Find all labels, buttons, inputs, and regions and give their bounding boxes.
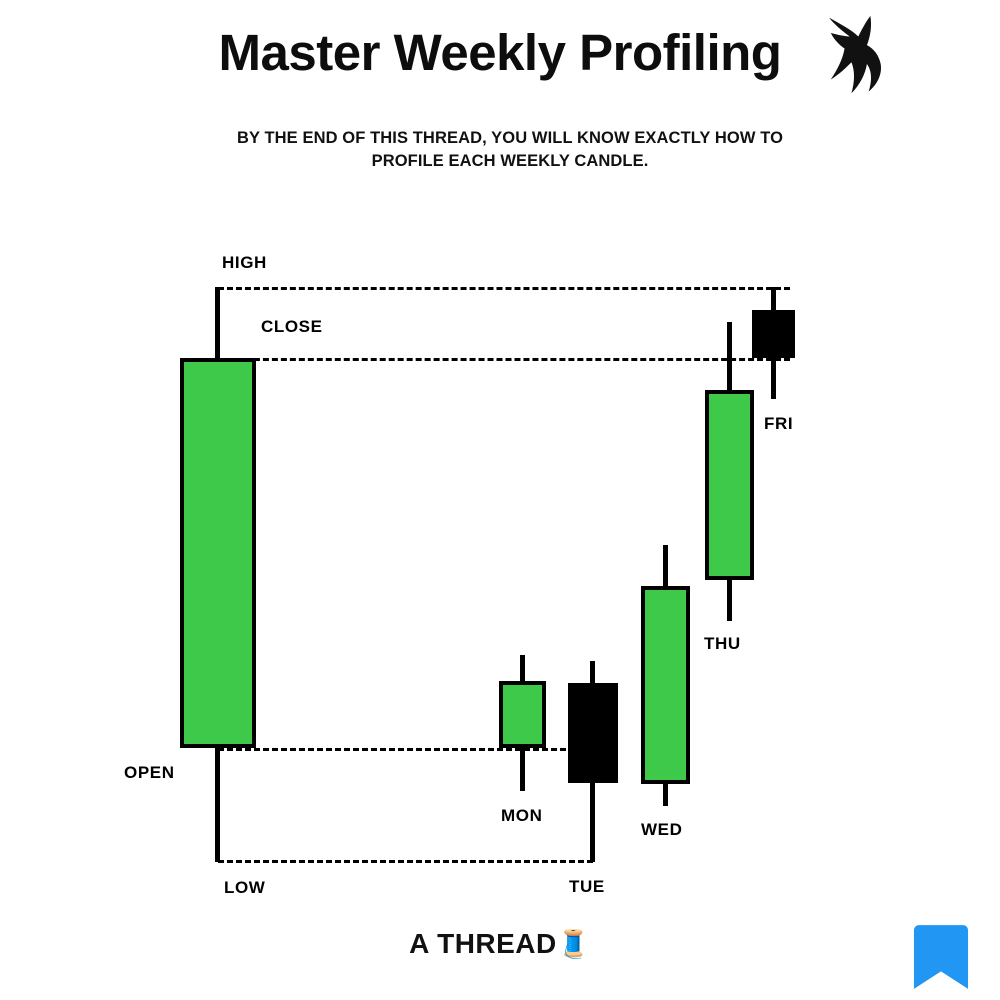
label-low: LOW <box>224 878 265 898</box>
label-day-thu: THU <box>704 634 741 654</box>
candle-thu-body <box>705 390 754 580</box>
weekly-candle-body <box>180 358 256 748</box>
candle-thu-lower-wick <box>727 576 732 621</box>
thread-footer: A THREAD🧵 <box>0 928 1000 960</box>
thread-spool-icon: 🧵 <box>557 929 591 959</box>
candle-tue-lower-wick <box>590 778 595 862</box>
candle-wed-upper-wick <box>663 545 668 590</box>
label-close: CLOSE <box>261 317 323 337</box>
weekly-candle-upper-wick <box>215 287 220 360</box>
label-day-mon: MON <box>501 806 542 826</box>
guide-line-high <box>218 287 790 290</box>
guide-line-close <box>218 358 790 361</box>
candle-wed-body <box>641 586 690 784</box>
label-day-tue: TUE <box>569 877 605 897</box>
label-high: HIGH <box>222 253 267 273</box>
candle-fri-lower-wick <box>771 354 776 399</box>
candle-thu-upper-wick <box>727 322 732 394</box>
label-open: OPEN <box>124 763 175 783</box>
label-day-wed: WED <box>641 820 682 840</box>
guide-line-open <box>218 748 593 751</box>
candle-tue-body <box>568 683 618 783</box>
candle-fri-body <box>752 310 795 358</box>
infographic-page: Master Weekly Profiling BY THE END OF TH… <box>0 0 1000 1000</box>
candlestick-chart: HIGH CLOSE OPEN LOW MON TUE WED THU FRI <box>0 0 1000 1000</box>
candle-mon-lower-wick <box>520 744 525 791</box>
weekly-candle-lower-wick <box>215 746 220 862</box>
thread-label: A THREAD <box>409 928 557 959</box>
label-day-fri: FRI <box>764 414 793 434</box>
guide-line-low <box>218 860 593 863</box>
bookmark-icon[interactable] <box>908 922 974 992</box>
candle-mon-body <box>499 681 546 748</box>
